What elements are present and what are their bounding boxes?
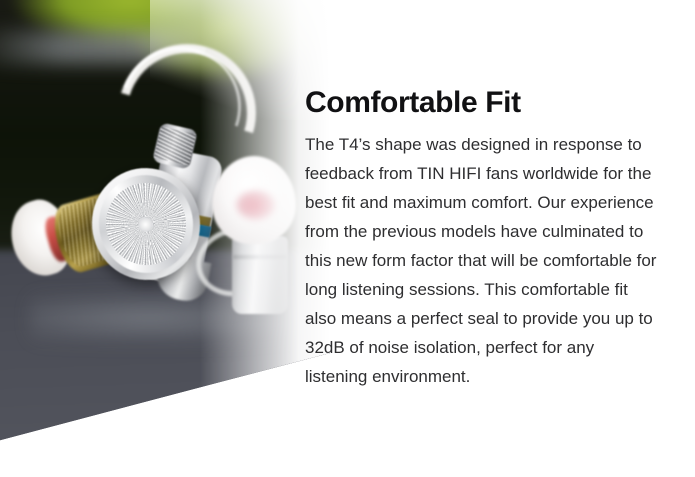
right-earbud-pink-nozzle (236, 190, 276, 220)
feature-copy-block: Comfortable Fit The T4’s shape was desig… (305, 86, 661, 391)
product-feature-panel: Comfortable Fit The T4’s shape was desig… (0, 0, 695, 477)
earphone-faceplate-hub (138, 217, 153, 232)
hero-product-photo (0, 0, 330, 477)
feature-description: The T4’s shape was designed in response … (305, 130, 661, 391)
feature-title: Comfortable Fit (305, 86, 661, 120)
right-earbud-silver-barrel (232, 236, 288, 314)
right-earbud-seam (233, 255, 287, 259)
